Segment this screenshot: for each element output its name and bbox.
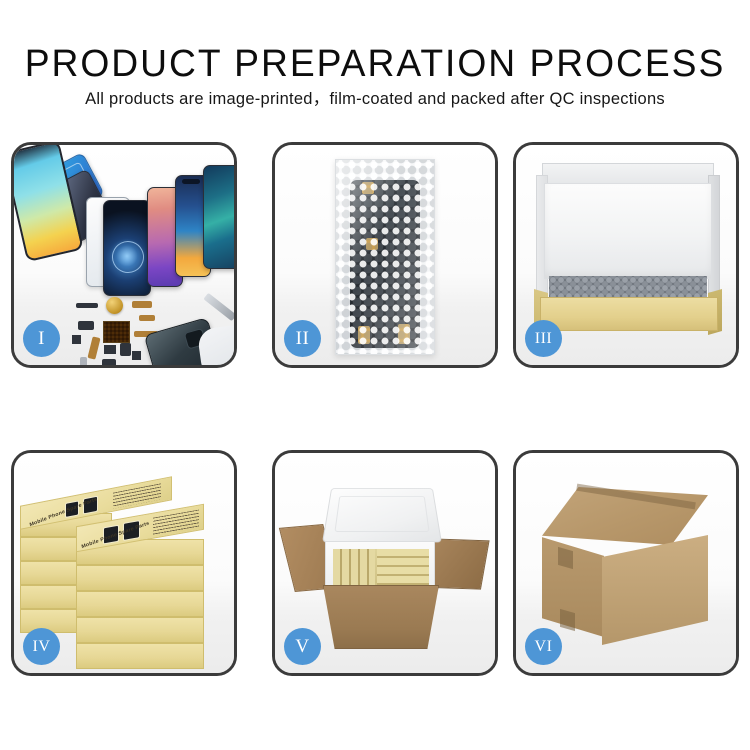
stacked-box [76,617,204,643]
screw-plate-part-icon [72,335,81,344]
tweezers-icon [203,293,236,321]
step-panel-1: I [11,142,237,368]
step-badge-6: VI [525,628,562,665]
stacked-box [76,643,204,669]
page-subtitle: All products are image-printed，film-coat… [0,89,750,109]
battery-connector-icon [80,357,87,368]
kraft-box-front-icon [540,297,718,331]
chip-part-icon [104,345,116,354]
speaker-mesh-icon [106,297,123,314]
styrofoam-lid-icon [322,488,442,542]
header: PRODUCT PREPARATION PROCESS All products… [0,0,750,130]
step-panel-2: II [272,142,498,368]
page-title: PRODUCT PREPARATION PROCESS [8,44,743,84]
step-panel-5: V [272,450,498,676]
earpiece-part-icon [76,303,98,308]
carton-body-icon [323,585,439,649]
stacked-box [76,591,204,617]
camera-module-icon [120,343,131,356]
step-badge-1: I [23,320,60,357]
white-foam-sheet-icon [544,183,712,279]
step-panel-3: III [513,142,739,368]
step-panel-4: Mobile Phone Spare Parts Mobile Phone Sp… [11,450,237,676]
product-preparation-infographic: PRODUCT PREPARATION PROCESS All products… [0,0,750,750]
flex-cable-part-icon [139,315,155,321]
flex-cable-part-icon [132,301,152,308]
packed-yellow-boxes-icon [333,549,429,587]
phone-screen-dark-icon [103,200,151,296]
step-badge-4: IV [23,628,60,665]
flex-strip-part-icon [87,336,100,359]
bracket-part-icon [78,321,94,330]
plastic-sheen-overlay [336,160,434,354]
phone-screen-green-icon [203,165,237,269]
copper-grid-chip-icon [103,321,130,343]
sim-tray-part-icon [132,351,141,360]
stacked-box [76,565,204,591]
box-spec-lines [153,510,199,536]
step-badge-2: II [284,320,321,357]
step-panel-6: VI [513,450,739,676]
bubble-wrap-bag-icon [335,159,435,355]
vibrator-part-icon [102,359,116,368]
step-badge-5: V [284,628,321,665]
step-badge-3: III [525,320,562,357]
